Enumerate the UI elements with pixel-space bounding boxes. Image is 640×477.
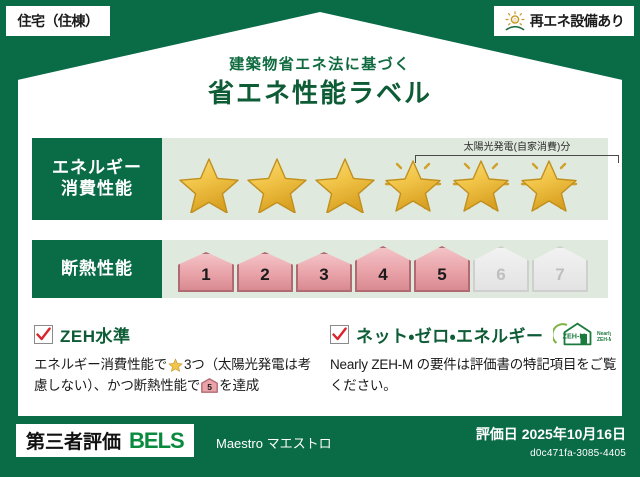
star-icon-solar (516, 153, 582, 213)
zeh-claim-title: ZEH水準 (60, 322, 131, 347)
bels-certification-badge: 第三者評価 BELS (16, 424, 194, 457)
insulation-performance-row-label: 断熱性能 (32, 240, 162, 298)
sun-icon: D (504, 10, 526, 32)
insulation-performance-row: 断熱性能 1 2 3 4 5 6 7 (32, 240, 608, 298)
zeh-body-part3: を達成 (219, 378, 259, 393)
check-icon (330, 325, 349, 344)
title-block: 建築物省エネ法に基づく 省エネ性能ラベル (0, 56, 640, 109)
insulation-label: 断熱性能 (61, 259, 133, 280)
net-zero-claim-header: ネット・ゼロ・エネルギー ZEH-M Nearly ZEH-M (330, 322, 620, 346)
house-type-badge: 住宅（住棟） (6, 6, 110, 36)
insulation-grade-badge: 6 (473, 246, 529, 292)
star-icon (312, 153, 378, 213)
solar-generation-note: 太陽光発電(自家消費)分 (415, 142, 619, 153)
svg-text:5: 5 (207, 383, 212, 393)
svg-text:ZEH-M: ZEH-M (597, 337, 611, 343)
insulation-grade-badge: 4 (355, 246, 411, 292)
house-type-label: 住宅（住棟） (18, 11, 99, 31)
insulation-grade-badge: 1 (178, 252, 234, 292)
star-icon (244, 153, 310, 213)
company-name: Maestro マエストロ (216, 433, 332, 452)
svg-text:ZEH-M: ZEH-M (562, 332, 585, 341)
insulation-grade-badge: 2 (237, 252, 293, 292)
energy-performance-row: エネルギー 消費性能 太陽光発電(自家消費)分 (32, 138, 608, 220)
bels-logo: BELS (129, 428, 184, 454)
energy-performance-row-label: エネルギー 消費性能 (32, 138, 162, 220)
third-party-evaluation-label: 第三者評価 (26, 427, 121, 454)
insulation-grade-badge: 7 (532, 246, 588, 292)
page-title: 省エネ性能ラベル (0, 79, 640, 109)
star-icon-inline (168, 357, 183, 372)
energy-label-line2: 消費性能 (61, 179, 133, 200)
insulation-grade-badge: 3 (296, 252, 352, 292)
energy-performance-row-body: 太陽光発電(自家消費)分 (162, 138, 608, 220)
evaluation-id: d0c471fa-3085-4405 (476, 448, 626, 459)
zeh-standard-claim: ZEH水準 エネルギー消費性能で3つ（太陽光発電は考慮しない）、かつ断熱性能で5… (34, 322, 314, 397)
check-icon (34, 325, 53, 344)
star-icon (176, 153, 242, 213)
renewable-equipment-label: 再エネ設備あり (530, 11, 625, 31)
energy-star-rating (162, 153, 582, 213)
net-zero-claim-body: Nearly ZEH-M の要件は評価書の特記項目をご覧ください。 (330, 354, 620, 397)
energy-performance-label: 住宅（住棟） D 再エネ設備あり 建築物省エネ法に基づ (0, 0, 640, 477)
label-subtitle: 建築物省エネ法に基づく (0, 56, 640, 74)
insulation-grade-badge-inline: 5 (201, 378, 218, 393)
footer-bar: 第三者評価 BELS Maestro マエストロ 評価日 2025年10月16日… (0, 416, 640, 477)
insulation-performance-row-body: 1 2 3 4 5 6 7 (162, 240, 608, 298)
zeh-body-part1: エネルギー消費性能で (34, 357, 167, 372)
renewable-equipment-badge: D 再エネ設備あり (494, 6, 634, 36)
star-icon-solar (448, 153, 514, 213)
energy-label-line1: エネルギー (52, 158, 142, 179)
evaluation-date: 評価日 2025年10月16日 (476, 424, 626, 444)
evaluation-info: 評価日 2025年10月16日 d0c471fa-3085-4405 (476, 424, 626, 459)
insulation-grade-scale: 1 2 3 4 5 6 7 (162, 246, 588, 292)
zeh-m-logo: ZEH-M Nearly ZEH-M (553, 321, 611, 347)
net-zero-energy-claim: ネット・ゼロ・エネルギー ZEH-M Nearly ZEH-M Nearly Z… (330, 322, 620, 397)
net-zero-claim-title: ネット・ゼロ・エネルギー (356, 322, 544, 347)
star-icon-solar (380, 153, 446, 213)
zeh-claim-body: エネルギー消費性能で3つ（太陽光発電は考慮しない）、かつ断熱性能で5を達成 (34, 354, 314, 397)
zeh-claim-header: ZEH水準 (34, 322, 314, 346)
insulation-grade-badge: 5 (414, 246, 470, 292)
svg-text:D: D (513, 18, 516, 23)
